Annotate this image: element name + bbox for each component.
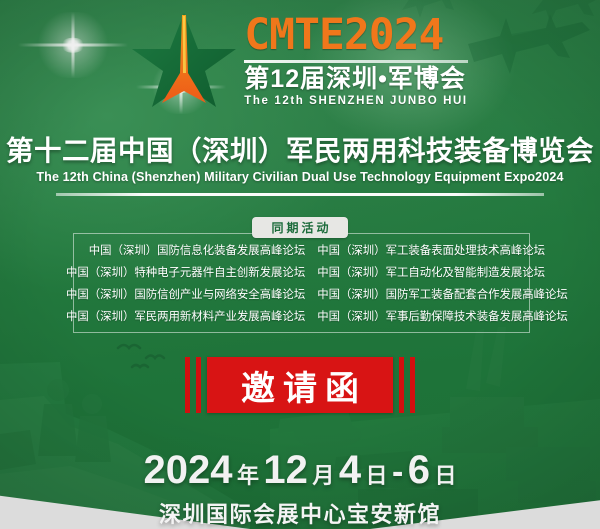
list-item[interactable]: 中国（深圳）国防军工装备配套合作发展高峰论坛	[315, 284, 568, 306]
logo-text-block: CMTE2024 第12届深圳•军博会 The 12th SHENZHEN JU…	[244, 11, 467, 108]
page-title-chinese: 第十二届中国（深圳）军民两用科技装备博览会	[0, 128, 600, 168]
list-item[interactable]: 中国（深圳）国防信息化装备发展高峰论坛	[66, 240, 307, 262]
acronym-title: CMTE2024	[244, 15, 467, 56]
expo-invitation-poster: CMTE2024 第12届深圳•军博会 The 12th SHENZHEN JU…	[0, 0, 600, 529]
list-item[interactable]: 中国（深圳）国防信创产业与网络安全高峰论坛	[66, 284, 307, 306]
event-date: 2024 年 12 月 4 日 - 6 日	[0, 448, 600, 493]
page-title-english: The 12th China (Shenzhen) Military Civil…	[0, 170, 600, 184]
chinese-short-title: 第12届深圳•军博会	[244, 66, 467, 93]
logo-lockup: CMTE2024 第12届深圳•军博会 The 12th SHENZHEN JU…	[0, 6, 600, 114]
date-day-start: 4	[339, 448, 361, 492]
invitation-banner: 邀请函	[0, 357, 600, 413]
date-year-unit: 年	[237, 463, 259, 488]
list-item[interactable]: 中国（深圳）军民两用新材料产业发展高峰论坛	[66, 306, 307, 328]
date-month-unit: 月	[312, 463, 334, 488]
date-day-end: 6	[408, 448, 430, 492]
invitation-label: 邀请函	[207, 357, 393, 413]
date-month: 12	[263, 448, 308, 492]
date-day-unit: 日	[366, 463, 388, 488]
logo-divider	[244, 60, 467, 63]
event-venue: 深圳国际会展中心宝安新馆	[0, 497, 600, 529]
star-rocket-emblem-icon	[132, 11, 236, 109]
list-item[interactable]: 中国（深圳）特种电子元器件自主创新发展论坛	[66, 262, 307, 284]
date-range-dash: -	[392, 453, 403, 491]
title-divider	[56, 193, 544, 196]
concurrent-activities-badge: 同期活动	[252, 217, 348, 238]
date-year: 2024	[144, 448, 233, 492]
banner-stripe	[410, 357, 415, 413]
list-item[interactable]: 中国（深圳）军事后勤保障技术装备发展高峰论坛	[315, 306, 568, 328]
english-short-title: The 12th SHENZHEN JUNBO HUI	[244, 93, 467, 109]
forum-list: 中国（深圳）国防信息化装备发展高峰论坛 中国（深圳）军工装备表面处理技术高峰论坛…	[66, 240, 536, 328]
list-item[interactable]: 中国（深圳）军工自动化及智能制造发展论坛	[315, 262, 568, 284]
date-day-end-unit: 日	[434, 463, 456, 488]
list-item[interactable]: 中国（深圳）军工装备表面处理技术高峰论坛	[315, 240, 568, 262]
